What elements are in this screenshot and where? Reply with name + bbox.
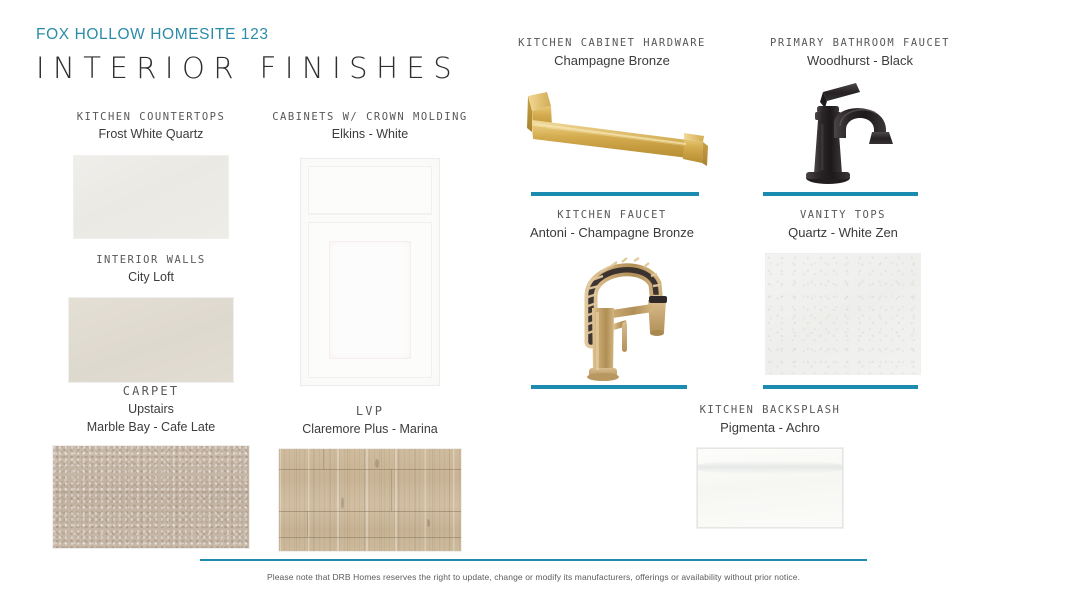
swatch-kitchen-countertops xyxy=(73,155,229,239)
item-carpet: CARPET Upstairs Marble Bay - Cafe Late xyxy=(30,383,272,549)
label-kitchen-cabinet-hardware-title: KITCHEN CABINET HARDWARE xyxy=(500,36,724,50)
swatch-kitchen-backsplash xyxy=(696,447,844,529)
caption-vanity-tops: VANITY TOPS Quartz - White Zen xyxy=(755,208,931,242)
divider-rule-hardware xyxy=(531,192,699,196)
lvp-plank-end xyxy=(391,469,392,511)
item-vanity-tops: VANITY TOPS Quartz - White Zen xyxy=(755,208,931,375)
tile-edge xyxy=(697,448,843,449)
label-kitchen-backsplash-sub: Pigmenta - Achro xyxy=(620,419,920,437)
label-kitchen-faucet-title: KITCHEN FAUCET xyxy=(500,208,724,222)
item-cabinets: CABINETS W/ CROWN MOLDING Elkins - White xyxy=(253,110,487,386)
divider-rule-kitchen-faucet xyxy=(531,385,687,389)
label-carpet-sub: Upstairs xyxy=(30,401,272,419)
label-primary-bathroom-faucet-title: PRIMARY BATHROOM FAUCET xyxy=(735,36,985,50)
product-image-bathroom-faucet xyxy=(790,80,920,192)
label-vanity-tops-title: VANITY TOPS xyxy=(755,208,931,222)
tile-gloss-highlight xyxy=(696,461,844,474)
interior-finishes-board: FOX HOLLOW HOMESITE 123 INTERIOR FINISHE… xyxy=(0,0,1067,600)
label-kitchen-countertops-title: KITCHEN COUNTERTOPS xyxy=(40,110,262,124)
label-cabinets-title: CABINETS W/ CROWN MOLDING xyxy=(253,110,487,124)
label-kitchen-countertops-sub: Frost White Quartz xyxy=(40,126,262,144)
footer-disclaimer: Please note that DRB Homes reserves the … xyxy=(0,572,1067,582)
item-lvp: LVP Claremore Plus - Marina xyxy=(253,403,487,552)
label-primary-bathroom-faucet-sub: Woodhurst - Black xyxy=(735,52,985,70)
caption-kitchen-backsplash: KITCHEN BACKSPLASH Pigmenta - Achro xyxy=(620,403,920,437)
lvp-grain-knot xyxy=(341,497,344,509)
label-carpet-sub2: Marble Bay - Cafe Late xyxy=(30,419,272,437)
label-interior-walls-title: INTERIOR WALLS xyxy=(40,253,262,267)
swatch-interior-walls xyxy=(68,297,234,383)
item-primary-bathroom-faucet: PRIMARY BATHROOM FAUCET Woodhurst - Blac… xyxy=(735,36,985,70)
item-interior-walls: INTERIOR WALLS City Loft xyxy=(40,253,262,383)
item-kitchen-backsplash: KITCHEN BACKSPLASH Pigmenta - Achro xyxy=(620,403,920,529)
item-kitchen-cabinet-hardware: KITCHEN CABINET HARDWARE Champagne Bronz… xyxy=(500,36,724,70)
lvp-grain-knot xyxy=(427,519,430,527)
product-image-kitchen-faucet xyxy=(556,246,692,382)
caption-interior-walls: INTERIOR WALLS City Loft xyxy=(40,253,262,287)
label-vanity-tops-sub: Quartz - White Zen xyxy=(755,224,931,242)
lvp-plank-end xyxy=(307,511,308,537)
cabinet-drawer-panel xyxy=(308,166,432,214)
product-image-cabinet-door xyxy=(300,158,440,386)
board-header: FOX HOLLOW HOMESITE 123 INTERIOR FINISHE… xyxy=(36,26,460,85)
caption-kitchen-countertops: KITCHEN COUNTERTOPS Frost White Quartz xyxy=(40,110,262,144)
item-kitchen-faucet: KITCHEN FAUCET Antoni - Champagne Bronze xyxy=(500,208,724,242)
swatch-vanity-tops xyxy=(765,253,921,375)
cabinet-pull-svg xyxy=(505,84,720,184)
item-kitchen-countertops: KITCHEN COUNTERTOPS Frost White Quartz xyxy=(40,110,262,239)
lvp-plank-end xyxy=(323,449,324,469)
caption-kitchen-cabinet-hardware: KITCHEN CABINET HARDWARE Champagne Bronz… xyxy=(500,36,724,70)
cabinet-shaker-inset xyxy=(329,241,411,359)
swatch-carpet xyxy=(52,445,250,549)
lvp-plank-seam xyxy=(279,537,461,538)
label-interior-walls-sub: City Loft xyxy=(40,269,262,287)
label-kitchen-faucet-sub: Antoni - Champagne Bronze xyxy=(500,224,724,242)
footer-divider-rule xyxy=(200,559,867,561)
community-name: FOX HOLLOW HOMESITE 123 xyxy=(36,26,460,44)
bathroom-faucet-svg xyxy=(790,80,920,192)
lvp-grain-knot xyxy=(375,459,379,468)
tile-edge xyxy=(697,448,698,528)
label-lvp-sub: Claremore Plus - Marina xyxy=(253,421,487,439)
caption-lvp: LVP Claremore Plus - Marina xyxy=(253,403,487,439)
caption-primary-bathroom-faucet: PRIMARY BATHROOM FAUCET Woodhurst - Blac… xyxy=(735,36,985,70)
label-cabinets-sub: Elkins - White xyxy=(253,126,487,144)
label-kitchen-cabinet-hardware-sub: Champagne Bronze xyxy=(500,52,724,70)
lvp-plank-seam xyxy=(279,469,461,470)
tile-edge xyxy=(842,448,843,528)
tile-edge xyxy=(697,527,843,528)
label-lvp-title: LVP xyxy=(253,403,487,419)
cabinet-door-panel xyxy=(308,222,432,378)
product-image-cabinet-bar-pull xyxy=(505,84,720,184)
caption-carpet: CARPET Upstairs Marble Bay - Cafe Late xyxy=(30,383,272,436)
page-title: INTERIOR FINISHES xyxy=(36,51,460,85)
label-kitchen-backsplash-title: KITCHEN BACKSPLASH xyxy=(620,403,920,417)
caption-cabinets: CABINETS W/ CROWN MOLDING Elkins - White xyxy=(253,110,487,144)
caption-kitchen-faucet: KITCHEN FAUCET Antoni - Champagne Bronze xyxy=(500,208,724,242)
label-carpet-title: CARPET xyxy=(30,383,272,399)
divider-rule-bathroom-faucet xyxy=(763,192,918,196)
divider-rule-vanity-tops xyxy=(763,385,918,389)
swatch-lvp xyxy=(278,448,462,552)
kitchen-faucet-svg xyxy=(556,246,692,382)
